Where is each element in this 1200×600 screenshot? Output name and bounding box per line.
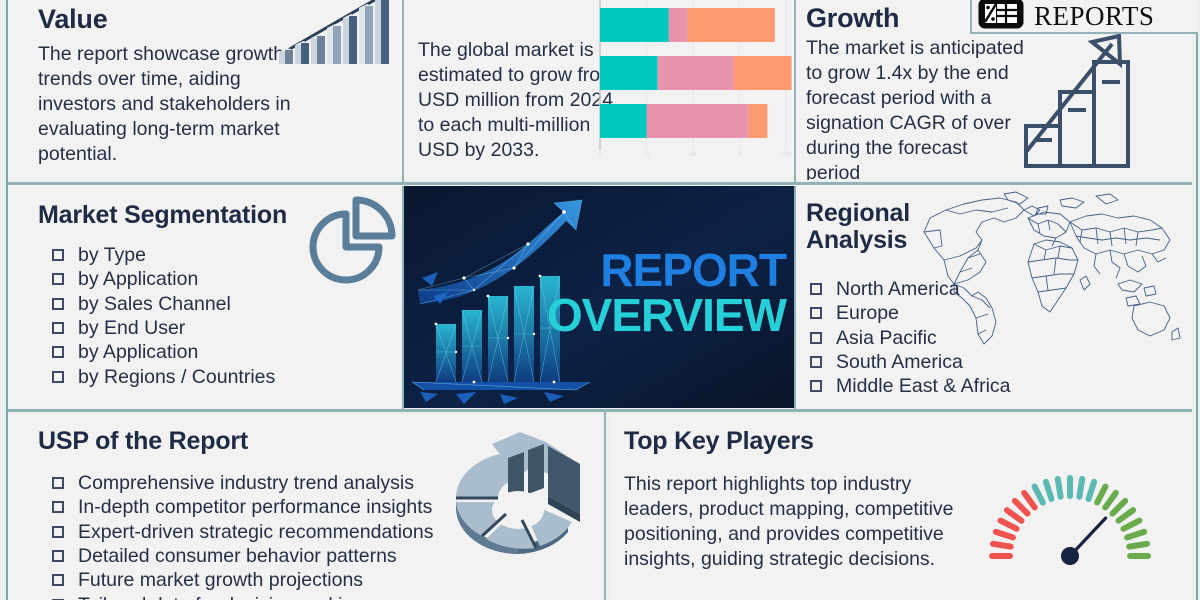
checkbox-icon: [52, 346, 64, 358]
bar-segment: [600, 104, 647, 138]
gauge-tick: [1079, 479, 1082, 497]
checkbox-icon: [810, 356, 822, 368]
bar-segment: [600, 56, 658, 90]
checkbox-icon: [52, 249, 64, 261]
panel-regional-analysis: Regional Analysis North America Europe A…: [796, 186, 1192, 408]
axis-tick-label: 25: [643, 152, 650, 158]
list-item-label: Comprehensive industry trend analysis: [78, 472, 414, 494]
checkbox-icon: [52, 371, 64, 383]
gauge-tick: [1007, 510, 1022, 521]
panel-cagr-value: CAGR Value The report showcase growth tr…: [8, 0, 402, 180]
panel-usp-of-the-report: USP of the Report Comprehensive industry…: [8, 414, 602, 600]
divider-row2-row3: [8, 409, 1192, 412]
cagr-title-line2: Value: [38, 4, 108, 34]
bar-segment: [669, 8, 688, 42]
axis-tick-label: 50: [690, 152, 697, 158]
list-item-label: Expert-driven strategic recommendations: [78, 521, 434, 543]
gauge-tick: [1097, 487, 1105, 503]
growth-title: Growth: [806, 4, 899, 33]
list-item-label: Tailored data for decision-making: [78, 594, 364, 600]
list-item[interactable]: Tailored data for decision-making: [44, 594, 434, 600]
gauge-tick: [1058, 479, 1061, 497]
infographic-canvas: CAGR Value The report showcase growth tr…: [0, 0, 1200, 600]
growth-body: The market is anticipated to grow 1.4x b…: [806, 36, 1026, 180]
gauge-tick: [1046, 482, 1052, 499]
checkbox-icon: [52, 322, 64, 334]
segmentation-list: by Type by Application by Sales Channel …: [44, 244, 275, 390]
world-map-icon: [920, 188, 1182, 353]
list-item[interactable]: Comprehensive industry trend analysis: [44, 472, 434, 495]
divider-row1-row2: [8, 182, 1192, 185]
gauge-tick: [1035, 487, 1043, 503]
list-item[interactable]: Future market growth projections: [44, 569, 434, 592]
gauge-tick: [1001, 521, 1017, 529]
list-item-label: Detailed consumer behavior patterns: [78, 545, 397, 567]
list-item-label: In-depth competitor performance insights: [78, 496, 432, 518]
divider-col1-row1: [402, 0, 404, 182]
hero-line2: OVERVIEW: [547, 293, 786, 338]
list-item[interactable]: In-depth competitor performance insights: [44, 496, 434, 519]
divider-col-row3: [604, 412, 606, 600]
list-item-label: by Type: [78, 244, 146, 266]
gauge-tick: [1112, 501, 1125, 514]
axis-tick-label: 0: [598, 152, 601, 158]
list-item[interactable]: by Application: [44, 268, 275, 291]
gauge-tick: [996, 532, 1013, 538]
list-item-label: Europe: [836, 302, 899, 324]
gauge-tick: [993, 544, 1011, 547]
gauge-tick: [1129, 544, 1147, 547]
bar-segment: [687, 8, 774, 42]
checkbox-icon: [810, 307, 822, 319]
gauge-hub: [1061, 547, 1079, 565]
axis-tick-label: 100: [781, 152, 791, 158]
list-item[interactable]: Expert-driven strategic recommendations: [44, 521, 434, 544]
bar-segment: [600, 8, 669, 42]
checkbox-icon: [52, 501, 64, 513]
gauge-tick: [1015, 501, 1028, 514]
list-item-label: by Application: [78, 268, 198, 290]
ascending-3d-bar-chart-icon: [273, 0, 393, 75]
market-size-body: The global market is estimated to grow f…: [418, 38, 618, 163]
cagr-body: The report showcase growth trends over t…: [38, 42, 298, 167]
speedometer-gauge-icon: [970, 456, 1170, 581]
pie-chart-icon: [298, 196, 402, 301]
list-item[interactable]: South America: [802, 351, 1011, 374]
exploded-3d-donut-icon: [448, 422, 598, 587]
bar-segment: [749, 104, 768, 138]
report-grid-icon: [978, 0, 1024, 34]
list-item[interactable]: Middle East & Africa: [802, 375, 1011, 398]
checkbox-icon: [52, 477, 64, 489]
list-item[interactable]: by Application: [44, 341, 275, 364]
gauge-tick: [1119, 510, 1134, 521]
checkbox-icon: [52, 273, 64, 285]
list-item-label: by Sales Channel: [78, 293, 231, 315]
bar-segment: [647, 104, 749, 138]
list-item[interactable]: Detailed consumer behavior patterns: [44, 545, 434, 568]
checkbox-icon: [810, 332, 822, 344]
segmentation-title: Market Segmentation: [38, 202, 287, 229]
checkbox-icon: [52, 550, 64, 562]
divider-col2-row1: [794, 0, 796, 182]
market-size-chart: 0255075100: [594, 0, 794, 180]
divider-col1-row2: [402, 186, 404, 409]
key-players-body: This report highlights top industry lead…: [624, 472, 954, 572]
usp-list: Comprehensive industry trend analysis In…: [44, 472, 434, 600]
regional-title-line2: Analysis: [806, 226, 907, 254]
gauge-tick: [1123, 521, 1139, 529]
gauge-tick: [1127, 532, 1144, 538]
list-item-label: by Application: [78, 341, 198, 363]
panel-top-key-players: Top Key Players This report highlights t…: [610, 414, 1192, 600]
hero-heading: REPORT OVERVIEW: [547, 248, 786, 338]
list-item-label: South America: [836, 351, 963, 373]
list-item-label: by Regions / Countries: [78, 366, 275, 388]
growth-bars-arrow-icon: [1024, 30, 1149, 175]
bar-segment: [658, 56, 734, 90]
panel-market-segmentation: Market Segmentation by Type by Applicati…: [8, 186, 402, 408]
frame-right-border: [1196, 0, 1198, 600]
axis-tick-label: 75: [736, 152, 743, 158]
gauge-tick: [1089, 482, 1095, 499]
checkbox-icon: [810, 283, 822, 295]
checkbox-icon: [52, 526, 64, 538]
logo-text: REPORTS: [1034, 1, 1154, 32]
checkbox-icon: [52, 574, 64, 586]
cagr-title: CAGR Value: [38, 0, 288, 33]
brand-logo[interactable]: REPORTS: [970, 0, 1198, 34]
gauge-tick: [1105, 493, 1116, 508]
panel-report-overview-hero: REPORT OVERVIEW: [404, 186, 794, 408]
list-item[interactable]: by Sales Channel: [44, 293, 275, 316]
bar-segment: [734, 56, 792, 90]
list-item[interactable]: by Regions / Countries: [44, 366, 275, 389]
divider-col2-row2: [794, 186, 796, 409]
list-item-label: Future market growth projections: [78, 569, 363, 591]
list-item-label: by End User: [78, 317, 185, 339]
usp-title: USP of the Report: [38, 428, 248, 455]
hero-line1: REPORT: [547, 248, 786, 293]
panel-market-size: Market Size The global market is estimat…: [404, 0, 794, 180]
checkbox-icon: [810, 380, 822, 392]
regional-title-line1: Regional: [806, 199, 910, 227]
checkbox-icon: [52, 298, 64, 310]
list-item[interactable]: by End User: [44, 317, 275, 340]
market-size-title: Market Size: [418, 0, 564, 5]
gauge-tick: [1024, 493, 1035, 508]
key-players-title: Top Key Players: [624, 428, 814, 455]
list-item[interactable]: by Type: [44, 244, 275, 267]
list-item-label: Middle East & Africa: [836, 375, 1011, 397]
